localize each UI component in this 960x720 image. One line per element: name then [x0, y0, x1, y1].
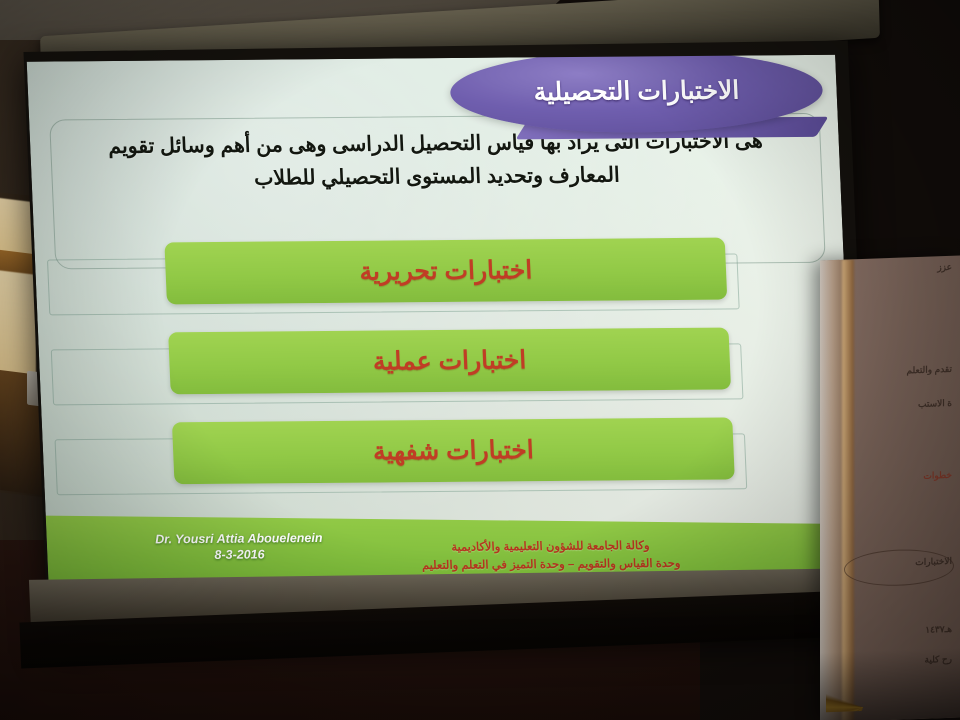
poster-oval-badge — [844, 548, 954, 588]
projection-screen: الاختبارات التحصيلية هى الاختبارات التى … — [27, 55, 858, 592]
poster-text-line-1: عزز — [937, 262, 952, 274]
slide-title-text: الاختبارات التحصيلية — [533, 76, 740, 108]
exam-type-label-written: اختبارات تحريرية — [359, 255, 533, 286]
poster-text-line-4: خطوات — [923, 470, 952, 482]
exam-type-bar-written: اختبارات تحريرية — [164, 238, 727, 305]
poster-text-line-2: تقدم والتعلم — [907, 364, 952, 377]
poster-text-line-3: ة الاستب — [918, 398, 952, 410]
door-glass-lower — [0, 269, 36, 380]
poster-shading — [820, 648, 960, 720]
wall-poster: عزز تقدم والتعلم ة الاستب خطوات الاختبار… — [820, 256, 960, 720]
poster-text-line-6: هـ١٤٣٧ — [925, 624, 952, 636]
exam-type-bar-practical: اختبارات عملية — [168, 327, 731, 394]
exam-type-label-oral: اختبارات شفهية — [372, 435, 534, 466]
presentation-slide: الاختبارات التحصيلية هى الاختبارات التى … — [27, 55, 858, 592]
photo-scene: الاختبارات التحصيلية هى الاختبارات التى … — [0, 0, 960, 720]
exam-type-bar-oral: اختبارات شفهية — [172, 417, 735, 484]
exam-type-label-practical: اختبارات عملية — [372, 345, 527, 376]
poster-text-line-5: الاختبارات — [915, 556, 952, 568]
